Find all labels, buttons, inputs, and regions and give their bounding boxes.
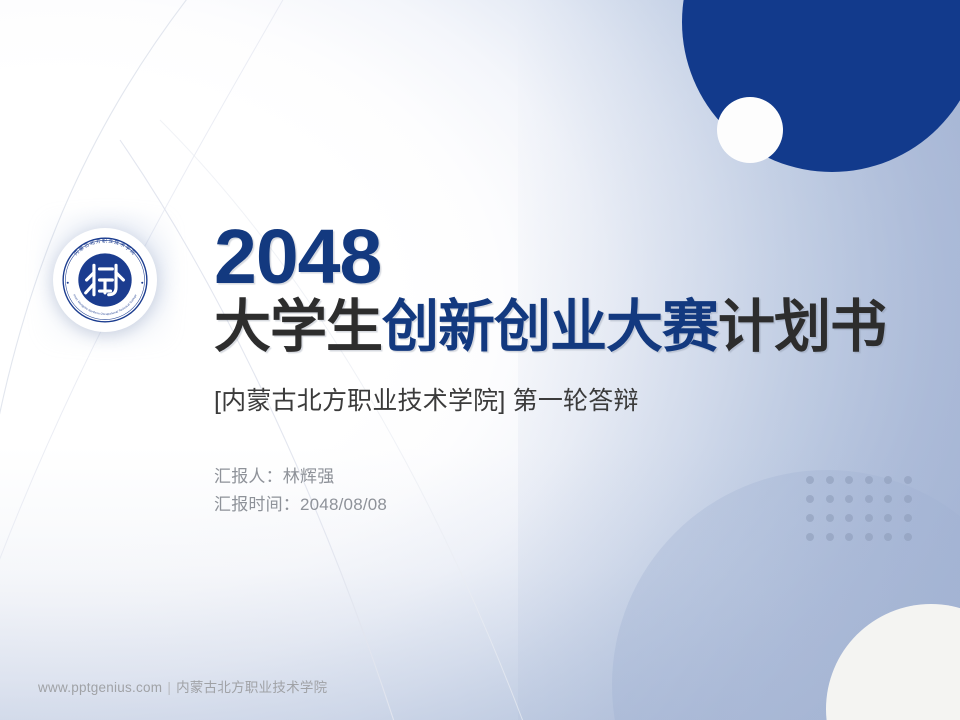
headline-segment-1: 大学生 — [214, 295, 382, 359]
presenter-line: 汇报人：林辉强 — [214, 463, 914, 491]
university-logo-badge: 内蒙古北方职业技术学院 Inner Mongolia Northern Occu… — [53, 228, 157, 332]
subtitle: [内蒙古北方职业技术学院] 第一轮答辩 — [214, 381, 914, 417]
footer-separator: | — [167, 680, 171, 695]
footer-institution: 内蒙古北方职业技术学院 — [176, 680, 327, 695]
footer: www.pptgenius.com|内蒙古北方职业技术学院 — [38, 676, 327, 696]
white-circle-small — [717, 97, 783, 163]
year-heading: 2048 — [214, 222, 914, 293]
main-headline: 大学生创新创业大赛计划书 — [214, 297, 914, 357]
headline-segment-3: 计划书 — [718, 295, 886, 359]
university-seal-icon: 内蒙古北方职业技术学院 Inner Mongolia Northern Occu… — [59, 234, 151, 326]
footer-site: www.pptgenius.com — [38, 680, 162, 695]
presentation-meta: 汇报人：林辉强 汇报时间：2048/08/08 — [214, 463, 914, 518]
presentation-cover-slide: 内蒙古北方职业技术学院 Inner Mongolia Northern Occu… — [0, 0, 960, 720]
title-block: 2048 大学生创新创业大赛计划书 [内蒙古北方职业技术学院] 第一轮答辩 汇报… — [214, 222, 914, 518]
report-date-line: 汇报时间：2048/08/08 — [214, 491, 914, 519]
headline-segment-2: 创新创业大赛 — [382, 295, 718, 359]
